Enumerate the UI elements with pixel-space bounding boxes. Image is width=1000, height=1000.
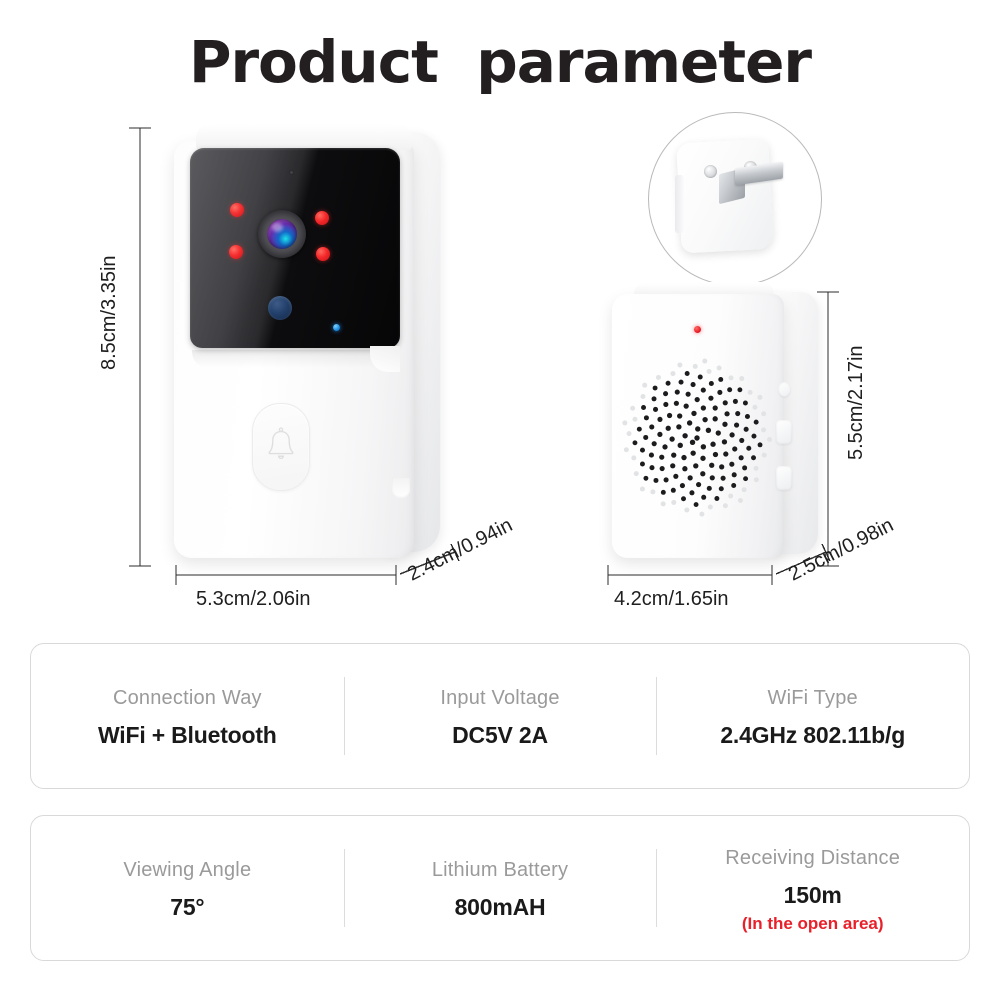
product-image-area: 8.5cm/3.35in 5.3cm/2.06in 2.4cm/0.94in 5…	[0, 0, 1000, 640]
ir-led-bottom-left-icon	[229, 245, 243, 259]
dimension-label-doorbell-width: 5.3cm/2.06in	[196, 588, 311, 611]
ir-led-top-left-icon	[230, 203, 244, 217]
spec-note: (In the open area)	[656, 914, 969, 934]
spec-value: 800mAH	[344, 894, 657, 921]
spec-cell-connection-way: Connection Way WiFi + Bluetooth	[31, 683, 344, 749]
speaker-grille-icon	[622, 348, 772, 528]
spec-value: 150m	[656, 882, 969, 909]
chime-volume-button-lower[interactable]	[776, 466, 792, 490]
spec-value: DC5V 2A	[344, 722, 657, 749]
spec-cell-viewing-angle: Viewing Angle 75°	[31, 855, 344, 921]
doorbell-top-cap	[196, 124, 412, 150]
spec-value: 75°	[31, 894, 344, 921]
spec-cell-input-voltage: Input Voltage DC5V 2A	[344, 683, 657, 749]
spec-cell-lithium-battery: Lithium Battery 800mAH	[344, 855, 657, 921]
spec-label: Viewing Angle	[31, 859, 344, 882]
spec-label: Input Voltage	[344, 687, 657, 710]
motion-sensor-icon	[268, 296, 292, 320]
chime-receiver-product	[612, 282, 832, 572]
spec-label: WiFi Type	[656, 687, 969, 710]
spec-value: 2.4GHz 802.11b/g	[656, 722, 969, 749]
spec-value: WiFi + Bluetooth	[31, 722, 344, 749]
doorbell-bell-button[interactable]	[252, 403, 310, 491]
ir-led-top-right-icon	[315, 211, 329, 225]
spec-label: Lithium Battery	[344, 859, 657, 882]
blue-status-led-icon	[333, 324, 340, 331]
chime-round-button[interactable]	[778, 382, 791, 397]
spec-row: Connection Way WiFi + Bluetooth Input Vo…	[31, 644, 969, 788]
dimension-label-doorbell-height: 8.5cm/3.35in	[98, 255, 121, 370]
spec-label: Receiving Distance	[656, 847, 969, 870]
doorbell-body-groove	[192, 350, 398, 368]
chime-volume-button-upper[interactable]	[776, 420, 792, 444]
spec-label: Connection Way	[31, 687, 344, 710]
spec-cell-wifi-type: WiFi Type 2.4GHz 802.11b/g	[656, 683, 969, 749]
red-status-led-icon	[694, 326, 701, 333]
spec-cell-receiving-distance: Receiving Distance 150m (In the open are…	[656, 843, 969, 934]
chime-side-edge	[675, 175, 684, 233]
dimension-label-chime-height: 5.5cm/2.17in	[845, 345, 868, 460]
spec-card-row-1: Connection Way WiFi + Bluetooth Input Vo…	[30, 643, 970, 789]
screw-icon-left	[704, 165, 717, 178]
spec-row: Viewing Angle 75° Lithium Battery 800mAH…	[31, 816, 969, 960]
ir-led-bottom-right-icon	[316, 247, 330, 261]
doorbell-camera-product	[170, 118, 460, 568]
microphone-hole-icon	[289, 170, 294, 175]
dimension-label-chime-width: 4.2cm/1.65in	[614, 588, 729, 611]
camera-lens-iris	[267, 219, 297, 249]
camera-lens-icon	[258, 210, 306, 258]
doorbell-bottom-notch	[392, 478, 410, 498]
spec-card-row-2: Viewing Angle 75° Lithium Battery 800mAH…	[30, 815, 970, 961]
doorbell-front-glass-panel	[190, 148, 400, 348]
bell-icon	[264, 427, 298, 467]
plug-detail-inset	[648, 112, 822, 286]
